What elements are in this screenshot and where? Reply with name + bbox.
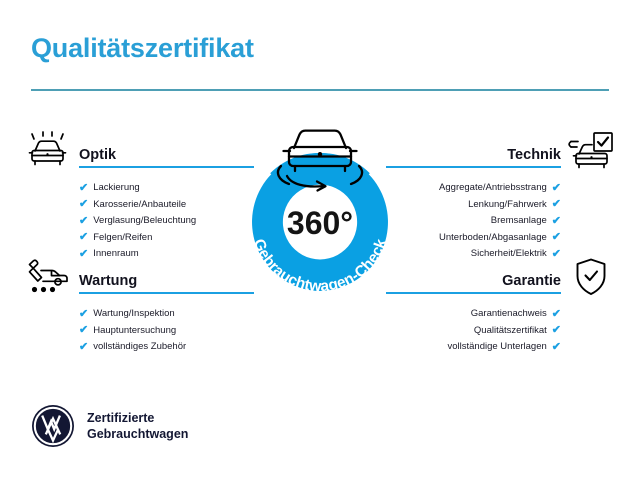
section-optik-header: Optik: [22, 130, 254, 172]
list-item: ✔Verglasung/Beleuchtung: [79, 213, 254, 230]
title-divider: [31, 89, 609, 91]
list-item-label: Aggregate/Antriebsstrang: [439, 180, 547, 197]
section-wartung-title: Wartung: [79, 273, 137, 289]
list-item-label: Unterboden/Abgasanlage: [439, 230, 547, 247]
list-item-label: Garantienachweis: [471, 306, 547, 323]
shield-check-icon: [566, 256, 616, 298]
check-icon: ✔: [79, 216, 88, 227]
car-shine-icon: [24, 130, 74, 172]
list-item: Unterboden/Abgasanlage✔: [386, 230, 561, 247]
section-garantie: Garantie Garantienachweis✔ Qualitätszert…: [386, 256, 618, 356]
section-wartung-underline: [79, 292, 254, 294]
section-wartung-header: Wartung: [22, 256, 254, 298]
section-optik: Optik ✔Lackierung ✔Karosserie/Anbauteile…: [22, 130, 254, 263]
certificate-page: Qualitätszertifikat: [0, 0, 640, 480]
section-optik-title: Optik: [79, 147, 116, 163]
list-item: Qualitätszertifikat✔: [386, 323, 561, 340]
section-technik-title: Technik: [507, 147, 561, 163]
check-icon: ✔: [552, 183, 561, 194]
list-item-label: Lenkung/Fahrwerk: [468, 197, 547, 214]
list-item: ✔Wartung/Inspektion: [79, 306, 254, 323]
check-icon: ✔: [552, 309, 561, 320]
list-item: Lenkung/Fahrwerk✔: [386, 197, 561, 214]
list-item-label: Felgen/Reifen: [93, 230, 152, 247]
check-icon: ✔: [552, 232, 561, 243]
check-icon: ✔: [79, 199, 88, 210]
page-title: Qualitätszertifikat: [31, 33, 254, 64]
list-item: vollständige Unterlagen✔: [386, 339, 561, 356]
list-item: ✔Felgen/Reifen: [79, 230, 254, 247]
list-item-label: vollständiges Zubehör: [93, 339, 186, 356]
section-optik-underline: [79, 166, 254, 168]
section-garantie-title: Garantie: [502, 273, 561, 289]
list-item-label: Karosserie/Anbauteile: [93, 197, 186, 214]
list-item: ✔Lackierung: [79, 180, 254, 197]
vw-brand-block: Zertifizierte Gebrauchtwagen: [31, 404, 188, 448]
check-icon: ✔: [79, 325, 88, 336]
car-checkbox-icon: [566, 130, 616, 172]
vw-logo-icon: [31, 404, 75, 448]
section-technik-list: Aggregate/Antriebsstrang✔ Lenkung/Fahrwe…: [386, 172, 618, 263]
section-technik: Technik Aggregate/Antriebsstrang✔ Lenkun…: [386, 130, 618, 263]
list-item: Bremsanlage✔: [386, 213, 561, 230]
section-technik-header: Technik: [386, 130, 618, 172]
section-garantie-header: Garantie: [386, 256, 618, 298]
check-icon: ✔: [552, 199, 561, 210]
check-icon: ✔: [552, 342, 561, 353]
list-item: Garantienachweis✔: [386, 306, 561, 323]
check-icon: ✔: [79, 342, 88, 353]
list-item-label: vollständige Unterlagen: [447, 339, 546, 356]
section-wartung: Wartung ✔Wartung/Inspektion ✔Hauptunters…: [22, 256, 254, 356]
check-icon: ✔: [79, 183, 88, 194]
vw-brand-line-1: Zertifizierte: [87, 411, 154, 425]
list-item-label: Bremsanlage: [491, 213, 547, 230]
section-technik-underline: [386, 166, 561, 168]
list-item-label: Hauptuntersuchung: [93, 323, 176, 340]
check-icon: ✔: [552, 216, 561, 227]
section-optik-list: ✔Lackierung ✔Karosserie/Anbauteile ✔Verg…: [22, 172, 254, 263]
list-item: ✔Hauptuntersuchung: [79, 323, 254, 340]
list-item-label: Qualitätszertifikat: [474, 323, 547, 340]
vw-brand-text: Zertifizierte Gebrauchtwagen: [87, 410, 188, 442]
badge-center-label: 360°: [287, 205, 353, 241]
list-item-label: Lackierung: [93, 180, 139, 197]
section-garantie-list: Garantienachweis✔ Qualitätszertifikat✔ v…: [386, 298, 618, 356]
check-icon: ✔: [79, 232, 88, 243]
list-item: ✔Karosserie/Anbauteile: [79, 197, 254, 214]
check-icon: ✔: [552, 325, 561, 336]
list-item-label: Wartung/Inspektion: [93, 306, 175, 323]
vw-brand-line-2: Gebrauchtwagen: [87, 427, 188, 441]
section-garantie-underline: [386, 292, 561, 294]
list-item: Aggregate/Antriebsstrang✔: [386, 180, 561, 197]
wrench-car-icon: [24, 256, 74, 298]
section-wartung-list: ✔Wartung/Inspektion ✔Hauptuntersuchung ✔…: [22, 298, 254, 356]
list-item: ✔vollständiges Zubehör: [79, 339, 254, 356]
badge-360-gebrauchtwagen-check: Gebrauchtwagen-Check 360°: [229, 118, 411, 310]
list-item-label: Verglasung/Beleuchtung: [93, 213, 196, 230]
check-icon: ✔: [79, 309, 88, 320]
